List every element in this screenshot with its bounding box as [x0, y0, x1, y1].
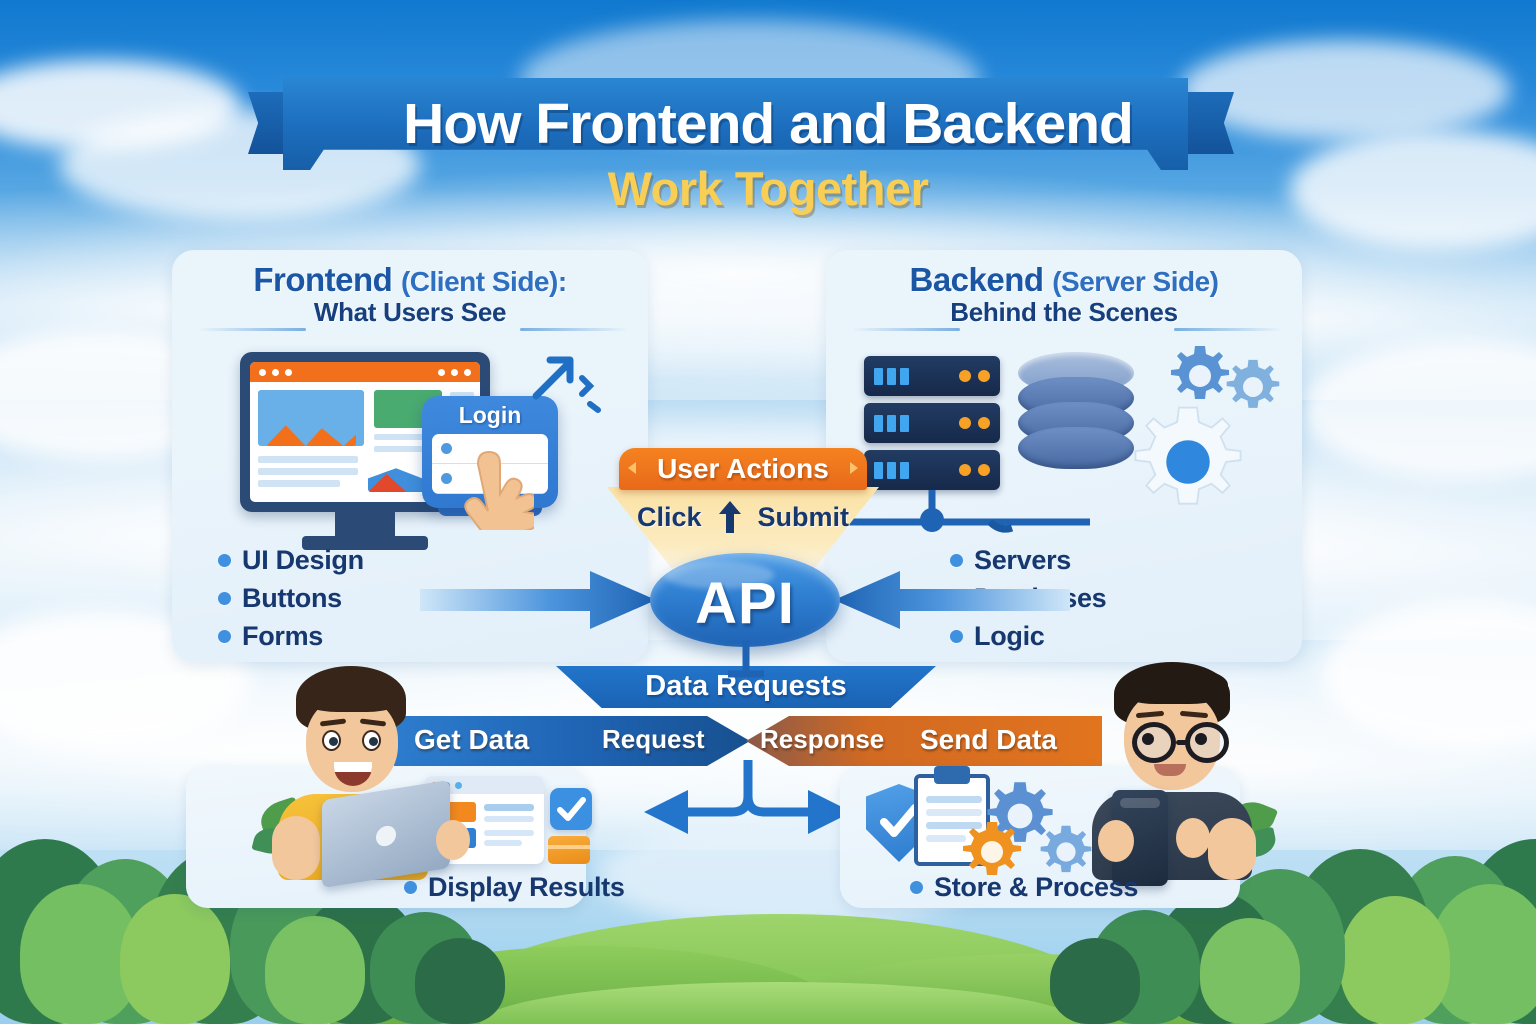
- backend-heading: Backend (Server Side) Behind the Scenes: [826, 262, 1302, 326]
- list-item: Buttons: [218, 582, 364, 615]
- package-box-icon: [548, 836, 590, 864]
- avatar-hand: [436, 820, 470, 860]
- bullet-dot-icon: [910, 881, 923, 894]
- gear-icon-large: [1130, 404, 1246, 520]
- text-line-6: [258, 480, 340, 487]
- browser-dots-left: [259, 369, 292, 376]
- up-arrow-icon: [718, 500, 742, 534]
- monitor-neck: [335, 512, 395, 538]
- avatar-fringe: [300, 672, 404, 712]
- bullet-dot-icon: [404, 881, 417, 894]
- server-rack-illustration: [864, 356, 1000, 497]
- list-item: UI Design: [218, 544, 364, 577]
- server-leds: [874, 368, 909, 385]
- glasses-lens-right: [1185, 722, 1229, 763]
- text-line-5: [258, 468, 358, 475]
- server-leds: [874, 462, 909, 479]
- results-line-3: [484, 830, 534, 836]
- server-indicators: [959, 417, 990, 429]
- store-process-label: Store & Process: [934, 872, 1138, 903]
- gear-icon-small-left: [1168, 344, 1232, 408]
- send-data-label: Send Data: [920, 724, 1057, 756]
- results-line-2: [484, 816, 534, 822]
- frontend-heading-sub: What Users See: [172, 298, 648, 326]
- results-line-1: [484, 804, 534, 811]
- laptop-logo: [376, 824, 396, 847]
- database-ring-3: [1018, 427, 1134, 469]
- action-submit-label: Submit: [758, 502, 850, 533]
- frontend-rule-right: [520, 328, 628, 331]
- clipboard-clip: [934, 766, 970, 784]
- glasses-bridge: [1176, 740, 1189, 745]
- bullet-dot-icon: [950, 554, 963, 567]
- frontend-heading-paren: (Client Side):: [401, 266, 567, 297]
- server-unit-2: [864, 403, 1000, 443]
- backend-rule-left: [852, 328, 960, 331]
- glasses-lens-left: [1132, 722, 1176, 763]
- bullet-dot-icon: [218, 554, 231, 567]
- backend-heading-sub: Behind the Scenes: [826, 298, 1302, 326]
- frontend-rule-left: [198, 328, 306, 331]
- banner-tick-right: [850, 462, 858, 474]
- avatar-eye-left: [322, 730, 341, 751]
- bullet-label: UI Design: [242, 545, 364, 576]
- avatar-hand: [1176, 818, 1210, 858]
- motion-arrow-icon: [530, 348, 610, 418]
- bullet-dot-icon: [950, 630, 963, 643]
- backend-heading-paren: (Server Side): [1052, 266, 1218, 297]
- banner-tick-left: [628, 462, 636, 474]
- server-indicators: [959, 464, 990, 476]
- avatar-arm-left: [272, 816, 320, 880]
- user-actions-row: Click Submit: [607, 500, 879, 534]
- list-item: Forms: [218, 620, 364, 653]
- action-click-label: Click: [637, 502, 702, 533]
- avatar-arm-right: [1208, 818, 1256, 880]
- display-results-label: Display Results: [428, 872, 625, 903]
- frontend-bullets: UI Design Buttons Forms: [218, 544, 364, 658]
- clipboard-line-2: [926, 809, 982, 816]
- server-leds: [874, 415, 909, 432]
- pointing-hand-icon: [448, 438, 534, 530]
- bullet-label: Buttons: [242, 583, 342, 614]
- api-label: API: [650, 570, 840, 637]
- infographic-canvas: How Frontend and Backend Work Together F…: [0, 0, 1536, 1024]
- clipboard-line-1: [926, 796, 982, 803]
- api-to-flow-connector: [700, 640, 792, 730]
- server-indicators: [959, 370, 990, 382]
- check-icon: [550, 788, 592, 830]
- database-illustration: [1018, 352, 1134, 469]
- user-actions-label: User Actions: [619, 453, 867, 485]
- avatar-fringe: [1118, 666, 1228, 704]
- browser-titlebar: [250, 362, 480, 382]
- bullet-dot-icon: [218, 592, 231, 605]
- user-actions-banner: User Actions: [619, 448, 867, 490]
- browser-dots-right: [438, 369, 471, 376]
- bullet-dot-icon: [218, 630, 231, 643]
- avatar-eye-right: [362, 730, 381, 751]
- store-process-caption: Store & Process: [910, 872, 1138, 903]
- request-label: Request: [602, 724, 705, 755]
- frontend-heading: Frontend (Client Side): What Users See: [172, 262, 648, 326]
- eyeglasses-icon: [1132, 722, 1232, 766]
- backend-heading-main: Backend: [910, 261, 1044, 298]
- frontend-heading-main: Frontend: [253, 261, 392, 298]
- backend-to-api-arrow: [834, 571, 1070, 629]
- backend-rule-right: [1174, 328, 1282, 331]
- page-subtitle: Work Together: [0, 165, 1536, 212]
- server-unit-3: [864, 450, 1000, 490]
- text-line-4: [258, 456, 358, 463]
- chart-thumb-blue: [258, 390, 364, 446]
- display-results-caption: Display Results: [404, 872, 625, 903]
- success-check-badge: [550, 788, 592, 830]
- frontend-to-api-arrow: [420, 571, 656, 629]
- server-unit-1: [864, 356, 1000, 396]
- results-line-4: [484, 840, 522, 846]
- avatar-hand: [1098, 820, 1134, 862]
- page-title: How Frontend and Backend: [0, 96, 1536, 153]
- response-label: Response: [760, 724, 884, 755]
- bullet-label: Forms: [242, 621, 323, 652]
